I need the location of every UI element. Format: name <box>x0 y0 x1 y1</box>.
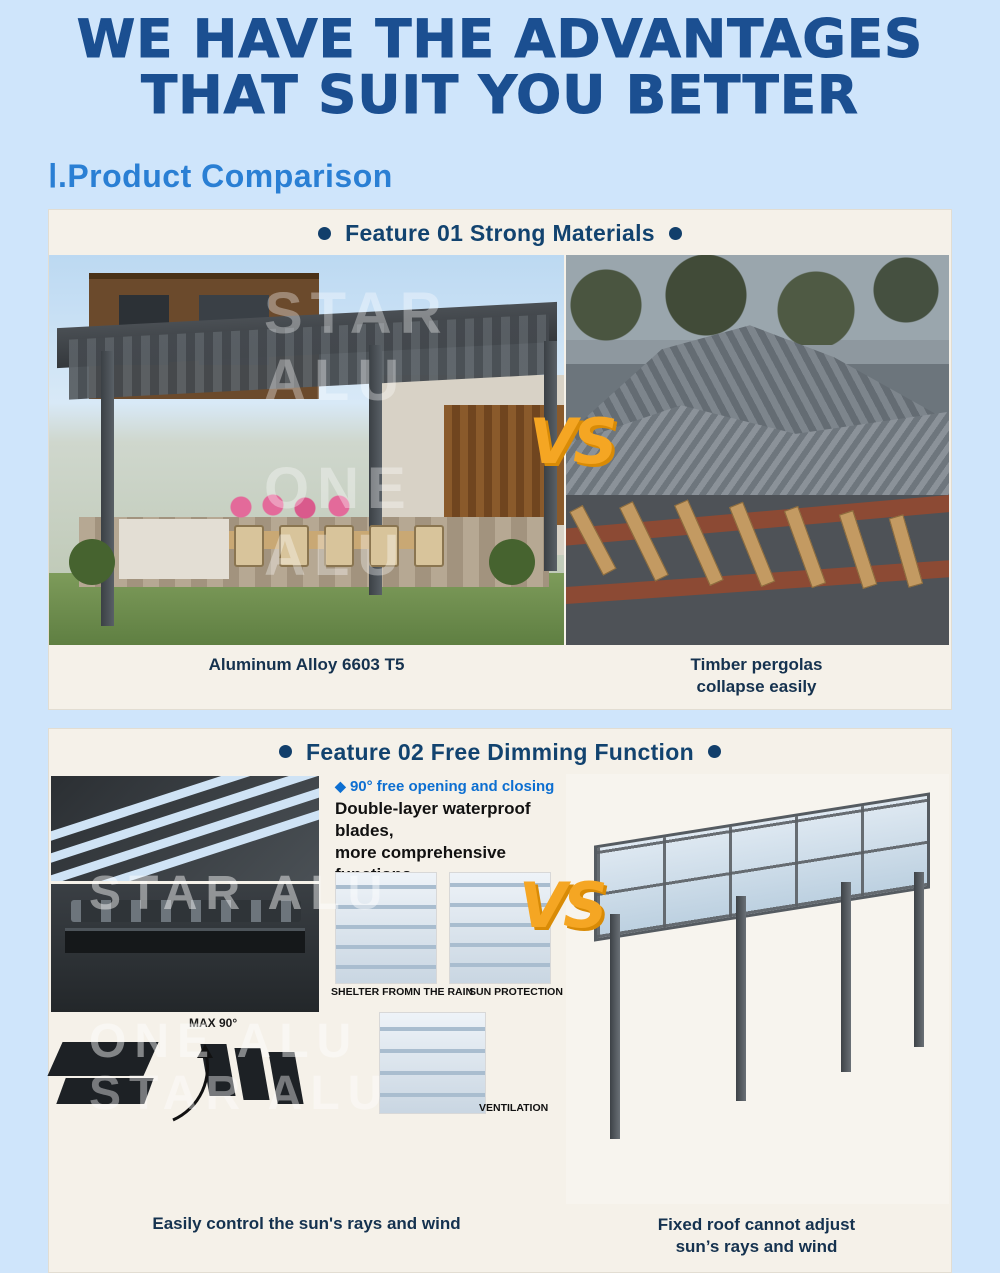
headline-line-1: WE HAVE THE ADVANTAGES <box>77 9 923 70</box>
tile-ventilation <box>379 1012 486 1114</box>
feature-02-right-caption: Fixed roof cannot adjust sun’s rays and … <box>564 1204 949 1272</box>
dimming-bullet-line: ◆ 90° free opening and closing <box>335 778 560 795</box>
diamond-bullet-icon: ◆ <box>335 778 346 794</box>
headline-line-2: THAT SUIT YOU BETTER <box>0 68 1000 124</box>
louver-mechanism-photo <box>51 884 319 1012</box>
vs-badge-feature-01: VS <box>529 405 614 478</box>
feature-01-heading-text: Feature 01 Strong Materials <box>345 220 655 246</box>
tile-shelter-from-rain <box>335 872 437 984</box>
feature-01-right-caption-line-1: Timber pergolas <box>564 654 949 675</box>
feature-02-right-caption-line-2: sun’s rays and wind <box>564 1236 949 1258</box>
tile-shelter-caption: SHELTER FROMN THE RAIN <box>331 986 473 998</box>
collapsed-timber-roof-photo <box>566 255 949 645</box>
feature-01-right-caption-line-2: collapse easily <box>564 676 949 697</box>
feature-02-panel: Feature 02 Free Dimming Function MAX 90° <box>48 728 952 1273</box>
bullet-dot-left-icon-2 <box>279 745 292 758</box>
louver-blades-photo <box>51 776 319 881</box>
feature-01-body: STAR ALU ONE ALU <box>49 255 951 645</box>
tile-sun-caption: SUN PROTECTION <box>469 986 563 998</box>
aluminum-pergola-photo: STAR ALU ONE ALU <box>49 255 564 645</box>
feature-02-heading-text: Feature 02 Free Dimming Function <box>306 739 694 765</box>
feature-01-panel: Feature 01 Strong Materials <box>48 209 952 710</box>
dimming-desc-line-1: Double-layer waterproof blades, <box>335 798 560 842</box>
page-headline: WE HAVE THE ADVANTAGES THAT SUIT YOU BET… <box>0 0 1000 123</box>
bullet-dot-right-icon <box>669 227 682 240</box>
feature-02-body: MAX 90° ◆ 90° free opening and closing <box>49 774 951 1204</box>
tile-ventilation-caption: VENTILATION <box>479 1102 548 1114</box>
rotation-arrow-icon <box>55 1024 325 1144</box>
section-title: Ⅰ.Product Comparison <box>48 157 1000 195</box>
opening-angle-diagram <box>55 1024 325 1144</box>
bullet-dot-right-icon-2 <box>708 745 721 758</box>
feature-02-captions: Easily control the sun's rays and wind F… <box>49 1204 951 1272</box>
feature-01-right-caption: Timber pergolas collapse easily <box>564 645 949 709</box>
feature-02-heading: Feature 02 Free Dimming Function <box>49 729 951 774</box>
feature-01-heading: Feature 01 Strong Materials <box>49 210 951 255</box>
feature-02-right-caption-line-1: Fixed roof cannot adjust <box>564 1214 949 1236</box>
feature-01-captions: Aluminum Alloy 6603 T5 Timber pergolas c… <box>49 645 951 709</box>
vs-badge-feature-02: VS <box>519 869 604 942</box>
bullet-dot-left-icon <box>318 227 331 240</box>
fixed-roof-carport-graphic <box>566 774 949 1204</box>
dimming-bullet-text: 90° free opening and closing <box>350 778 554 795</box>
adjustable-louver-graphic: MAX 90° ◆ 90° free opening and closing <box>49 774 564 1204</box>
feature-02-left-caption: Easily control the sun's rays and wind <box>49 1204 564 1272</box>
feature-01-left-caption: Aluminum Alloy 6603 T5 <box>49 645 564 709</box>
